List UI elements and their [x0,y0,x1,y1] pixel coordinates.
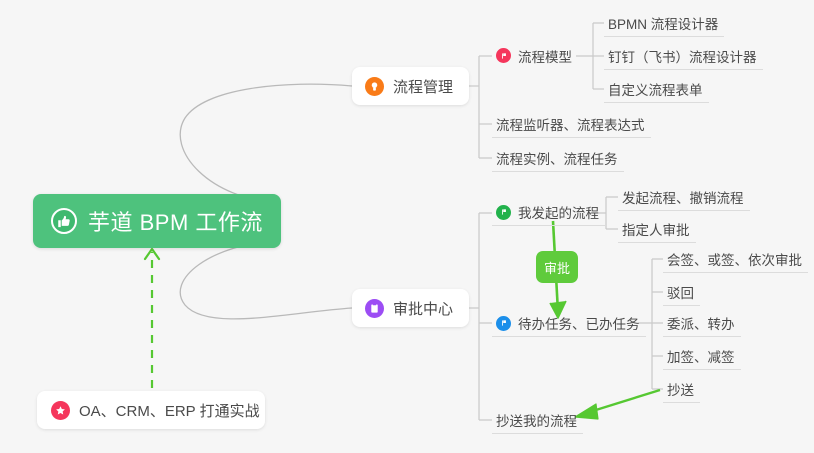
star-icon [51,401,70,420]
thumbs-up-icon [51,208,77,234]
flag-icon [496,316,511,331]
node-countersign[interactable]: 会签、或签、依次审批 [663,246,808,273]
root-label: 芋道 BPM 工作流 [88,205,263,237]
flag-icon [496,48,511,63]
label-bpmn-designer: BPMN 流程设计器 [608,13,718,33]
node-assignee-approval[interactable]: 指定人审批 [618,216,696,243]
mindmap-canvas: 芋道 BPM 工作流 流程管理 审批中心 流程模型 [0,0,814,453]
label-process-model: 流程模型 [518,46,572,66]
label-delegate-transfer: 委派、转办 [667,313,735,333]
arrow-cc-to-ccme [583,390,660,414]
node-start-cancel-process[interactable]: 发起流程、撤销流程 [618,184,750,211]
node-todo-done-tasks[interactable]: 待办任务、已办任务 [492,310,646,337]
lightbulb-icon [365,77,384,96]
label-assignee-approval: 指定人审批 [622,219,690,239]
link-root-to-process-management [180,84,352,203]
node-cc-to-me-process[interactable]: 抄送我的流程 [492,407,583,434]
node-process-model[interactable]: 流程模型 [492,42,578,69]
node-cc[interactable]: 抄送 [663,376,700,403]
label-reject: 驳回 [667,282,694,302]
node-my-started-process[interactable]: 我发起的流程 [492,199,605,226]
link-root-to-approval-center [180,240,352,319]
approval-badge[interactable]: 审批 [536,251,578,283]
label-start-cancel-process: 发起流程、撤销流程 [622,187,744,207]
node-delegate-transfer[interactable]: 委派、转办 [663,310,741,337]
label-my-started-process: 我发起的流程 [518,202,599,222]
node-add-remove-sign[interactable]: 加签、减签 [663,343,741,370]
node-custom-process-form[interactable]: 自定义流程表单 [604,76,709,103]
label-countersign: 会签、或签、依次审批 [667,249,802,269]
branch-node-process-management[interactable]: 流程管理 [352,67,469,105]
label-process-listener-expression: 流程监听器、流程表达式 [496,114,645,134]
node-dingtalk-feishu-designer[interactable]: 钉钉（飞书）流程设计器 [604,43,763,70]
arrow-note-to-root-head [145,249,159,259]
node-process-instance-task[interactable]: 流程实例、流程任务 [492,145,624,172]
label-cc: 抄送 [667,379,694,399]
clipboard-icon [365,299,384,318]
label-dingtalk-feishu-designer: 钉钉（飞书）流程设计器 [608,46,757,66]
label-custom-process-form: 自定义流程表单 [608,79,703,99]
node-bpmn-designer[interactable]: BPMN 流程设计器 [604,10,724,37]
label-process-instance-task: 流程实例、流程任务 [496,148,618,168]
label-cc-to-me-process: 抄送我的流程 [496,410,577,430]
label-add-remove-sign: 加签、减签 [667,346,735,366]
label-todo-done-tasks: 待办任务、已办任务 [518,313,640,333]
node-reject[interactable]: 驳回 [663,279,700,306]
approval-badge-label: 审批 [544,258,570,277]
node-process-listener-expression[interactable]: 流程监听器、流程表达式 [492,111,651,138]
note-label: OA、CRM、ERP 打通实战 [79,400,260,421]
note-node-integration[interactable]: OA、CRM、ERP 打通实战 [37,391,265,429]
branch-node-approval-center[interactable]: 审批中心 [352,289,469,327]
root-node[interactable]: 芋道 BPM 工作流 [33,194,281,248]
flag-icon [496,205,511,220]
branch-label-approval-center: 审批中心 [393,298,453,319]
branch-label-process-management: 流程管理 [393,76,453,97]
